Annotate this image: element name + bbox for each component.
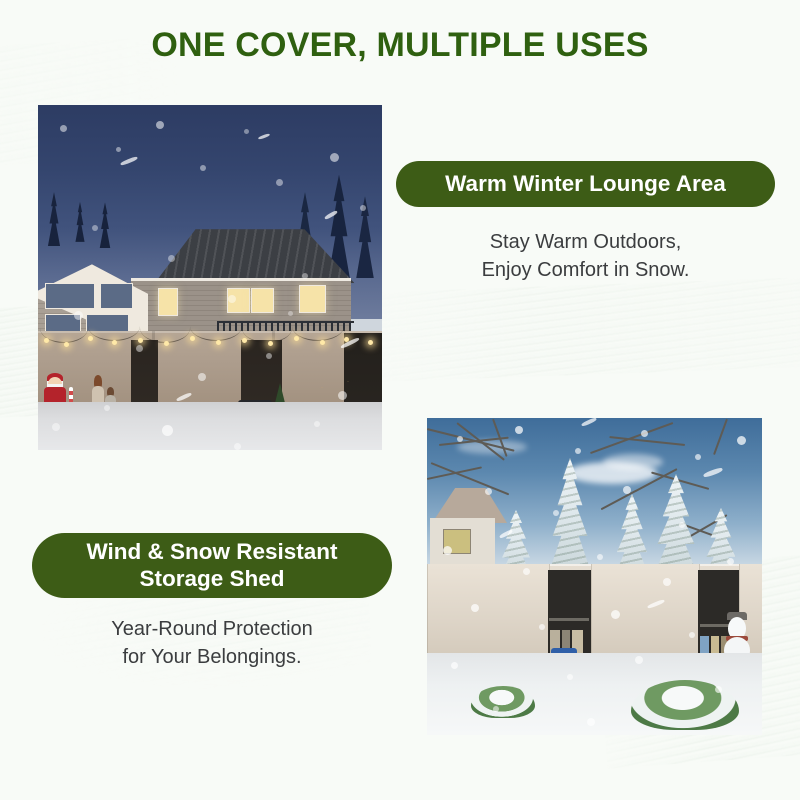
falling-snow-overlay — [427, 418, 762, 735]
falling-snow-overlay — [38, 105, 382, 450]
background-brush-stroke — [329, 276, 800, 383]
badge-warm-winter-lounge: Warm Winter Lounge Area — [396, 161, 775, 207]
feature-photo-storage-shed — [427, 418, 762, 735]
promo-infographic: ONE COVER, MULTIPLE USES — [0, 0, 800, 800]
caption-warm-winter-lounge: Stay Warm Outdoors, Enjoy Comfort in Sno… — [396, 228, 775, 285]
feature-photo-winter-lounge — [38, 105, 382, 450]
page-title: ONE COVER, MULTIPLE USES — [0, 26, 800, 65]
caption-storage-shed: Year-Round Protection for Your Belonging… — [32, 615, 392, 672]
badge-storage-shed: Wind & Snow Resistant Storage Shed — [32, 533, 392, 598]
